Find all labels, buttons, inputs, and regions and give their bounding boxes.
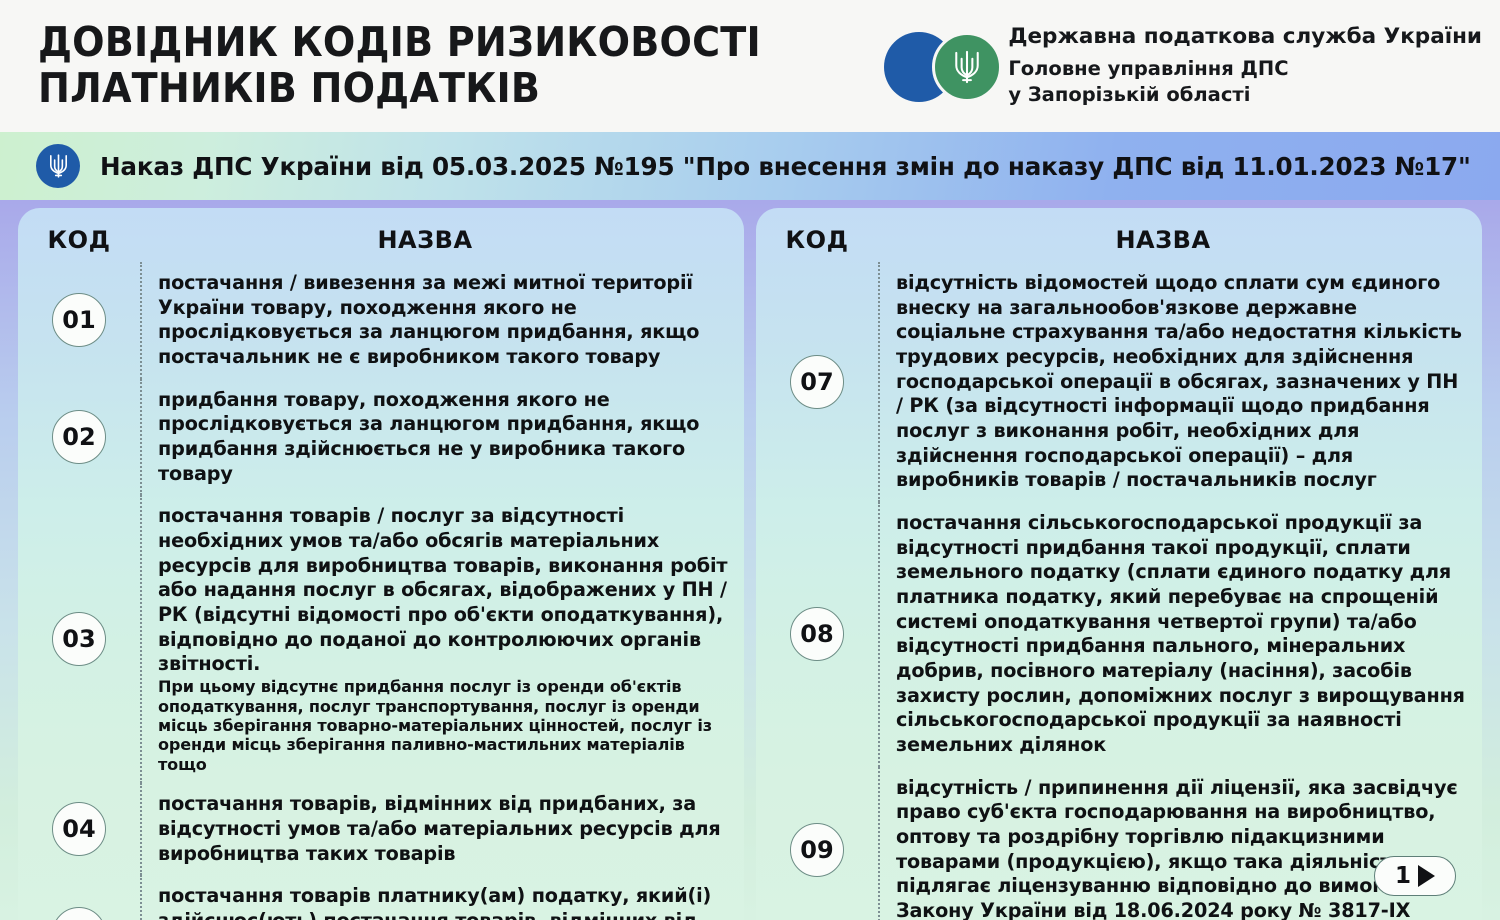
row-description: постачання сільськогосподарської продукц… — [896, 511, 1466, 758]
code-badge: 09 — [790, 823, 844, 877]
left-header-code: КОД — [18, 226, 140, 254]
name-cell: придбання товару, походження якого не пр… — [140, 379, 744, 496]
table-row[interactable]: 02 придбання товару, походження якого не… — [18, 379, 744, 496]
name-cell: відсутність / припинення дії ліцензії, я… — [878, 767, 1482, 920]
row-description-note: При цьому відсутнє придбання послуг із о… — [158, 677, 728, 774]
title-block: ДОВІДНИК КОДІВ РИЗИКОВОСТІ ПЛАТНИКІВ ПОД… — [0, 20, 815, 112]
table-row[interactable]: 08 постачання сільськогосподарської прод… — [756, 502, 1482, 767]
table-row[interactable]: 01 постачання / вивезення за межі митної… — [18, 262, 744, 379]
code-badge: 07 — [790, 355, 844, 409]
code-badge: 01 — [52, 293, 106, 347]
order-title: Наказ ДПС України від 05.03.2025 №195 "П… — [100, 152, 1471, 181]
code-cell: 09 — [756, 767, 878, 920]
brand-block: Державна податкова служба України Головн… — [876, 23, 1500, 108]
arrow-right-icon — [1418, 865, 1435, 887]
row-description: відсутність / припинення дії ліцензії, я… — [896, 776, 1466, 920]
brand-logos — [876, 28, 1008, 104]
name-cell: постачання товарів / послуг за відсутнос… — [140, 495, 744, 783]
code-cell: 07 — [756, 262, 878, 502]
order-trident-badge-icon — [36, 144, 80, 188]
page-title: ДОВІДНИК КОДІВ РИЗИКОВОСТІ ПЛАТНИКІВ ПОД… — [38, 20, 761, 112]
brand-org-name: Державна податкова служба України — [1008, 23, 1482, 52]
name-cell: постачання сільськогосподарської продукц… — [878, 502, 1482, 767]
left-panel: КОД НАЗВА 01 постачання / вивезення за м… — [18, 208, 744, 920]
code-cell: 03 — [18, 495, 140, 783]
right-rows: 07 відсутність відомостей щодо сплати су… — [756, 262, 1482, 920]
left-rows: 01 постачання / вивезення за межі митної… — [18, 262, 744, 920]
page-header: ДОВІДНИК КОДІВ РИЗИКОВОСТІ ПЛАТНИКІВ ПОД… — [0, 0, 1500, 132]
table-row[interactable]: 04 постачання товарів, відмінних від при… — [18, 783, 744, 875]
name-cell: постачання товарів, відмінних від придба… — [140, 783, 744, 875]
row-description: постачання товарів платнику(ам) податку,… — [158, 884, 728, 920]
right-column-header: КОД НАЗВА — [756, 208, 1482, 262]
code-badge: 02 — [52, 410, 106, 464]
row-description: постачання товарів, відмінних від придба… — [158, 792, 728, 866]
left-column-header: КОД НАЗВА — [18, 208, 744, 262]
brand-dept-line1: Головне управління ДПС — [1008, 56, 1482, 82]
right-header-code: КОД — [756, 226, 878, 254]
code-cell: 01 — [18, 262, 140, 379]
code-badge: 05 — [52, 907, 106, 920]
code-badge: 08 — [790, 607, 844, 661]
code-badge: 03 — [52, 612, 106, 666]
code-cell: 04 — [18, 783, 140, 875]
code-badge: 04 — [52, 802, 106, 856]
right-header-name: НАЗВА — [878, 226, 1482, 254]
code-cell: 02 — [18, 379, 140, 496]
table-row[interactable]: 07 відсутність відомостей щодо сплати су… — [756, 262, 1482, 502]
code-cell: 05 — [18, 875, 140, 920]
row-description: відсутність відомостей щодо сплати сум є… — [896, 271, 1466, 493]
logo-green-circle-trident-icon — [932, 32, 1002, 102]
row-description: постачання товарів / послуг за відсутнос… — [158, 504, 728, 677]
name-cell: відсутність відомостей щодо сплати сум є… — [878, 262, 1482, 502]
table-row[interactable]: 03 постачання товарів / послуг за відсут… — [18, 495, 744, 783]
table-row[interactable]: 09 відсутність / припинення дії ліцензії… — [756, 767, 1482, 920]
row-description: постачання / вивезення за межі митної те… — [158, 271, 728, 370]
pagination-next-button[interactable]: 1 — [1374, 856, 1456, 896]
left-header-name: НАЗВА — [140, 226, 744, 254]
name-cell: постачання товарів платнику(ам) податку,… — [140, 875, 744, 920]
name-cell: постачання / вивезення за межі митної те… — [140, 262, 744, 379]
table-row[interactable]: 05 постачання товарів платнику(ам) подат… — [18, 875, 744, 920]
code-cell: 08 — [756, 502, 878, 767]
right-panel: КОД НАЗВА 07 відсутність відомостей щодо… — [756, 208, 1482, 920]
brand-text: Державна податкова служба України Головн… — [1008, 23, 1482, 108]
content-panels: КОД НАЗВА 01 постачання / вивезення за м… — [18, 208, 1482, 920]
row-description: придбання товару, походження якого не пр… — [158, 388, 728, 487]
page-number: 1 — [1395, 863, 1411, 889]
order-bar: Наказ ДПС України від 05.03.2025 №195 "П… — [0, 132, 1500, 200]
brand-dept-line2: у Запорізькій області — [1008, 82, 1482, 108]
